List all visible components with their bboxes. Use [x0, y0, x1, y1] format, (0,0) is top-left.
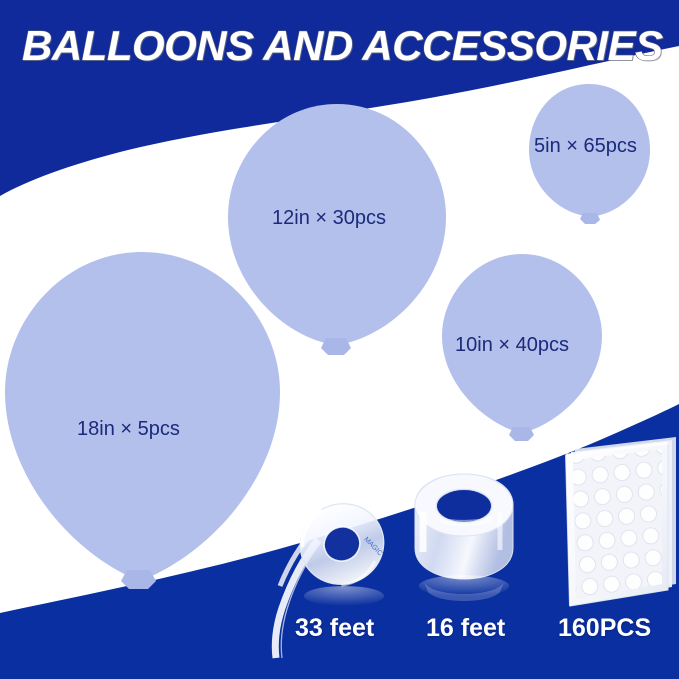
page-title: BALLOONS AND ACCESSORIES: [22, 22, 663, 70]
strip-tape-length-unit: feet: [323, 614, 374, 642]
double-tape-length-value: 16: [426, 614, 454, 642]
product-infographic: MAGIC: [0, 0, 679, 679]
product-artwork: MAGIC: [0, 0, 679, 679]
balloon-18in: [5, 252, 280, 589]
double-sided-tape-label: 16 feet: [426, 614, 505, 643]
double-tape-length-unit: feet: [454, 614, 505, 642]
double-sided-tape: [415, 474, 513, 601]
balloon-10in: [442, 254, 602, 441]
strip-tape-length-value: 33: [295, 614, 323, 642]
balloon-strip-tape-label: 33 feet: [295, 614, 374, 643]
glue-dots-label: 160PCS: [558, 614, 651, 643]
glue-dots-sheet: [552, 433, 679, 621]
glue-dots-count-value: 160: [558, 614, 600, 642]
balloon-5in: [529, 84, 650, 224]
balloon-12in: [228, 104, 446, 355]
glue-dots-count-unit: PCS: [600, 614, 651, 642]
